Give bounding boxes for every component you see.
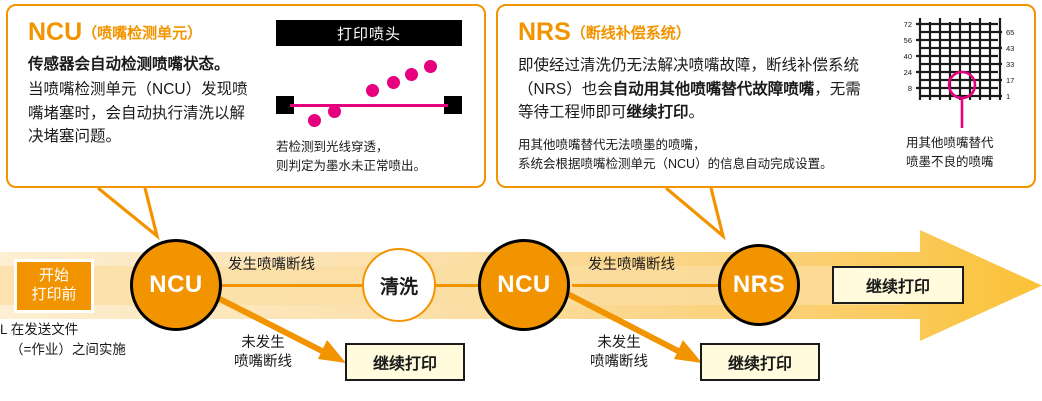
panel-ncu-body-line3: 决堵塞问题。 bbox=[28, 125, 273, 149]
callout-panel-nrs: NRS（断线补偿系统） 即使经过清洗仍无法解决喷嘴故障，断线补偿系统 （NRS）… bbox=[496, 4, 1036, 188]
callout-tail-ncu bbox=[98, 188, 157, 236]
nozzle-grid-caption: 用其他喷嘴替代 喷墨不良的喷嘴 bbox=[906, 134, 994, 173]
grid-right-label-3: 17 bbox=[1006, 77, 1024, 85]
panel-nrs-title: NRS（断线补偿系统） bbox=[518, 20, 691, 45]
result-box-continue-3-label: 继续打印 bbox=[866, 273, 930, 297]
process-flow-diagram: 开始 打印前 L 在发送文件 （=作业）之间实施 NCU 清洗 N bbox=[0, 230, 1042, 401]
panel-nrs-body-line3-c: 。 bbox=[689, 104, 705, 121]
node-cleaning: 清洗 bbox=[362, 248, 436, 322]
node-ncu-2: NCU bbox=[478, 239, 570, 331]
ink-dot bbox=[328, 105, 341, 118]
panel-ncu-title: NCU（喷嘴检测单元） bbox=[28, 20, 202, 45]
grid-right-label-1: 43 bbox=[1006, 45, 1024, 53]
callout-tails bbox=[0, 182, 1042, 242]
callout-panel-ncu: NCU（喷嘴检测单元） 传感器会自动检测喷嘴状态。 当喷嘴检测单元（NCU）发现… bbox=[6, 4, 486, 188]
node-cleaning-label: 清洗 bbox=[380, 272, 418, 299]
edge-label-broken-2: 发生喷嘴断线 bbox=[588, 256, 675, 275]
panel-nrs-subtext: 用其他喷嘴替代无法喷墨的喷嘴， 系统会根据喷嘴检测单元（NCU）的信息自动完成设… bbox=[518, 136, 833, 174]
ink-dot bbox=[308, 114, 321, 127]
panel-ncu-acronym-cn: （喷嘴检测单元） bbox=[82, 25, 202, 42]
edge-label-ok-1: 未发生 喷嘴断线 bbox=[218, 334, 308, 372]
arrowhead-1 bbox=[318, 340, 346, 363]
ink-dot bbox=[387, 76, 400, 89]
ink-dot bbox=[405, 68, 418, 81]
panel-ncu-body-line1: 当喷嘴检测单元（NCU）发现喷 bbox=[28, 78, 273, 102]
result-box-continue-1: 继续打印 bbox=[345, 343, 465, 381]
result-box-continue-1-label: 继续打印 bbox=[373, 350, 437, 374]
node-ncu-1-label: NCU bbox=[149, 271, 203, 299]
panel-nrs-subtext-line1: 用其他喷嘴替代无法喷墨的喷嘴， bbox=[518, 136, 833, 155]
ink-dot bbox=[424, 60, 437, 73]
panel-nrs-body-line3: 等待工程师即可继续打印。 bbox=[518, 101, 878, 125]
infographic-root: 开始 打印前 L 在发送文件 （=作业）之间实施 NCU 清洗 N bbox=[0, 0, 1042, 401]
panel-ncu-acronym: NCU bbox=[28, 18, 82, 46]
panel-nrs-subtext-line2: 系统会根据喷嘴检测单元（NCU）的信息自动完成设置。 bbox=[518, 155, 833, 174]
panel-nrs-body-line1: 即使经过清洗仍无法解决喷嘴故障，断线补偿系统 bbox=[518, 54, 878, 78]
print-head-figure: 打印喷头 若检测到光线穿透， 则判定为墨水未正常喷出。 bbox=[276, 20, 474, 180]
panel-ncu-lead: 传感器会自动检测喷嘴状态。 bbox=[28, 54, 230, 76]
result-box-continue-2: 继续打印 bbox=[700, 343, 820, 381]
panel-nrs-body-line3-b: 继续打印 bbox=[627, 104, 689, 121]
arrowhead-2 bbox=[674, 340, 702, 363]
edge-label-broken-1: 发生喷嘴断线 bbox=[228, 256, 315, 275]
panel-nrs-body-line2-b: 自动用其他喷嘴替代故障喷嘴 bbox=[613, 81, 815, 98]
panel-nrs-acronym: NRS bbox=[518, 18, 571, 46]
grid-left-label-0: 72 bbox=[894, 21, 912, 29]
edge-label-ok-2-line2: 喷嘴断线 bbox=[574, 353, 664, 372]
result-box-continue-3: 继续打印 bbox=[832, 266, 964, 304]
grid-right-label-2: 33 bbox=[1006, 61, 1024, 69]
edge-label-ok-2: 未发生 喷嘴断线 bbox=[574, 334, 664, 372]
nozzle-grid-caption-line1: 用其他喷嘴替代 bbox=[906, 134, 994, 153]
panel-nrs-body-line2-a: （NRS）也会 bbox=[518, 81, 613, 98]
print-head-caption: 若检测到光线穿透， 则判定为墨水未正常喷出。 bbox=[276, 138, 426, 176]
nozzle-grid-figure: 72 56 40 24 8 65 43 33 17 1 用其他喷嘴替代 喷墨不良… bbox=[890, 12, 1034, 184]
edge-label-ok-1-line1: 未发生 bbox=[218, 334, 308, 353]
panel-nrs-body-line1-text: 即使经过清洗仍无法解决喷嘴故障，断线补偿系统 bbox=[518, 57, 859, 74]
panel-nrs-body: 即使经过清洗仍无法解决喷嘴故障，断线补偿系统 （NRS）也会自动用其他喷嘴替代故… bbox=[518, 54, 878, 125]
grid-left-label-2: 40 bbox=[894, 53, 912, 61]
grid-left-label-1: 56 bbox=[894, 37, 912, 45]
print-head-caption-line2: 则判定为墨水未正常喷出。 bbox=[276, 157, 426, 176]
panel-ncu-body-line2: 嘴堵塞时，会自动执行清洗以解 bbox=[28, 102, 273, 126]
panel-nrs-body-line2-c: ，无需 bbox=[814, 81, 861, 98]
grid-left-label-4: 8 bbox=[894, 85, 912, 93]
ink-dot bbox=[366, 84, 379, 97]
node-nrs-label: NRS bbox=[733, 271, 785, 299]
panel-ncu-body: 当喷嘴检测单元（NCU）发现喷 嘴堵塞时，会自动执行清洗以解 决堵塞问题。 bbox=[28, 78, 273, 149]
node-ncu-2-label: NCU bbox=[497, 271, 551, 299]
panel-nrs-body-line2: （NRS）也会自动用其他喷嘴替代故障喷嘴，无需 bbox=[518, 78, 878, 102]
grid-right-label-4: 1 bbox=[1006, 93, 1024, 101]
print-head-bar: 打印喷头 bbox=[276, 20, 462, 46]
panel-nrs-acronym-cn: （断线补偿系统） bbox=[571, 25, 691, 42]
print-head-caption-line1: 若检测到光线穿透， bbox=[276, 138, 426, 157]
panel-nrs-body-line3-a: 等待工程师即可 bbox=[518, 104, 627, 121]
grid-right-label-0: 65 bbox=[1006, 29, 1024, 37]
sensor-beam bbox=[290, 104, 448, 107]
node-ncu-1: NCU bbox=[130, 239, 222, 331]
edge-label-ok-2-line1: 未发生 bbox=[574, 334, 664, 353]
grid-left-label-3: 24 bbox=[894, 69, 912, 77]
result-box-continue-2-label: 继续打印 bbox=[728, 350, 792, 374]
nozzle-grid-caption-line2: 喷墨不良的喷嘴 bbox=[906, 153, 994, 172]
node-nrs: NRS bbox=[718, 244, 800, 326]
callout-tail-nrs bbox=[666, 188, 723, 236]
print-head-bar-label: 打印喷头 bbox=[337, 23, 401, 44]
edge-label-ok-1-line2: 喷嘴断线 bbox=[218, 353, 308, 372]
